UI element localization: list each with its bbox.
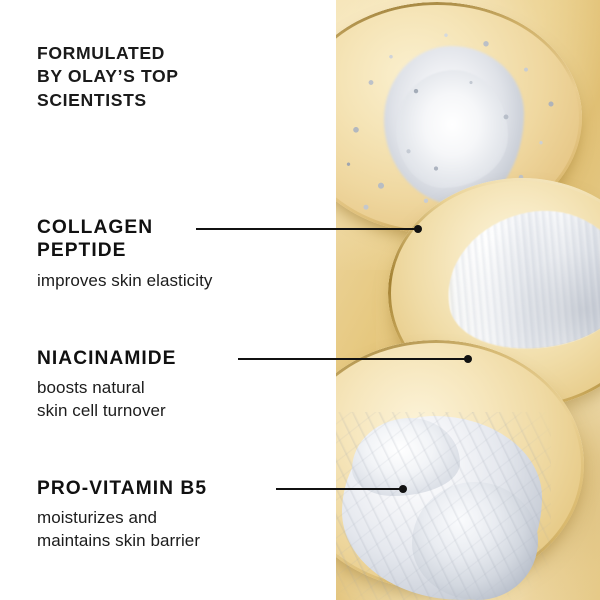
leader-dot-niacinamide <box>464 355 472 363</box>
ingredient-name-niacinamide: NIACINAMIDE <box>37 347 177 370</box>
ingredient-name-collagen: COLLAGEN PEPTIDE <box>37 216 212 263</box>
ingredient-block-collagen: COLLAGEN PEPTIDE improves skin elasticit… <box>37 216 212 292</box>
ingredient-block-niacinamide: NIACINAMIDE boosts natural skin cell tur… <box>37 347 177 422</box>
leader-dot-collagen <box>414 225 422 233</box>
leader-line-provitamin-b5 <box>276 488 403 490</box>
leader-line-niacinamide <box>238 358 468 360</box>
leader-dot-provitamin-b5 <box>399 485 407 493</box>
leader-line-collagen <box>196 228 418 230</box>
ingredient-name-provitamin-b5: PRO-VITAMIN B5 <box>37 477 207 500</box>
ingredient-imagery-panel <box>336 0 600 600</box>
ingredient-block-provitamin-b5: PRO-VITAMIN B5 moisturizes and maintains… <box>37 477 207 552</box>
page-headline: FORMULATED BY OLAY’S TOP SCIENTISTS <box>37 42 287 112</box>
ingredient-description-niacinamide: boosts natural skin cell turnover <box>37 377 177 421</box>
ingredient-description-collagen: improves skin elasticity <box>37 270 212 292</box>
ingredient-description-provitamin-b5: moisturizes and maintains skin barrier <box>37 507 207 551</box>
infographic-canvas: FORMULATED BY OLAY’S TOP SCIENTISTS COLL… <box>0 0 600 600</box>
